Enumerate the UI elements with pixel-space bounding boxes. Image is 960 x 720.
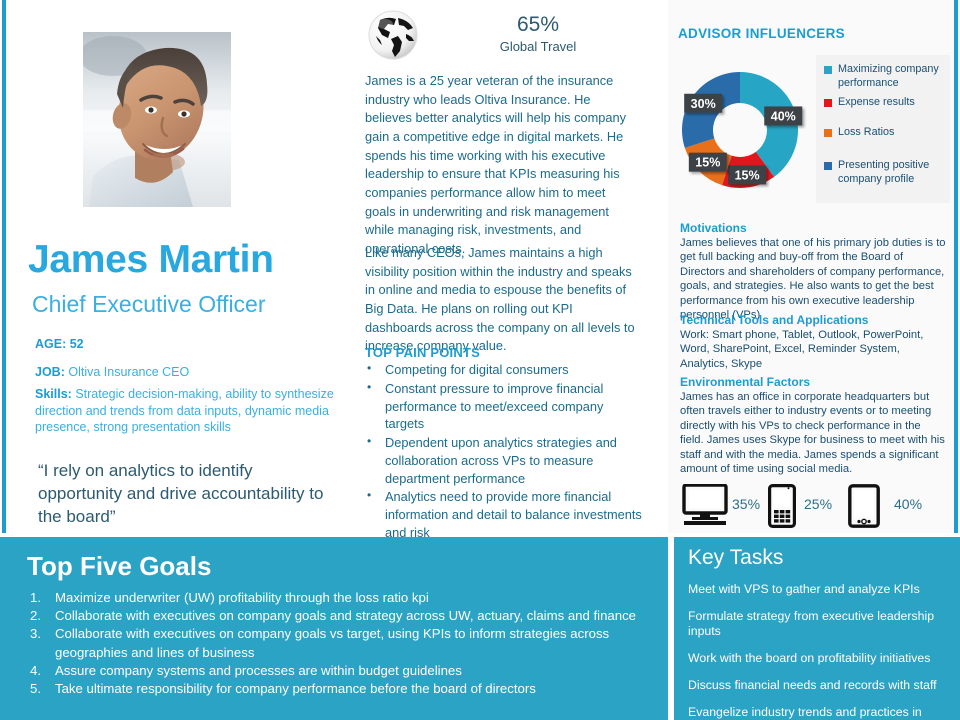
list-item: Formulate strategy from executive leader… <box>688 609 956 639</box>
advisor-influencers-donut-chart: 40%15%15%30% <box>670 50 810 210</box>
legend-swatch-3 <box>824 162 832 170</box>
list-item: Take ultimate responsibility for company… <box>27 680 637 698</box>
key-tasks-list: Meet with VPS to gather and analyze KPIs… <box>688 582 956 720</box>
section-title: Environmental Factors <box>680 375 946 390</box>
environmental-factors-section: Environmental Factors James has an offic… <box>680 375 946 477</box>
insights-column: ADVISOR INFLUENCERS 40%15%15%30% Maximiz… <box>668 0 954 533</box>
legend-swatch-2 <box>824 129 832 137</box>
persona-infographic: James Martin Chief Executive Officer AGE… <box>0 0 960 720</box>
travel-label: Global Travel <box>448 39 628 54</box>
age-fact: AGE: 52 <box>35 336 335 353</box>
device-percent: 40% <box>894 496 922 512</box>
portrait-photo <box>83 32 231 207</box>
device-percent: 35% <box>732 496 760 512</box>
job-fact: JOB: Oltiva Insurance CEO <box>35 364 335 381</box>
list-item: Dependent upon analytics strategies and … <box>365 434 643 487</box>
legend-item: Maximizing company performance <box>824 63 960 90</box>
section-body: James has an office in corporate headqua… <box>680 390 946 477</box>
legend-swatch-1 <box>824 99 832 107</box>
advisor-influencers-heading: ADVISOR INFLUENCERS <box>678 26 845 41</box>
desktop-monitor-icon <box>682 484 728 528</box>
chart-legend: Maximizing company performance Expense r… <box>816 55 950 203</box>
legend-label: Maximizing company performance <box>838 63 939 89</box>
legend-label: Expense results <box>838 96 915 108</box>
avatar <box>83 32 231 207</box>
device-percent: 25% <box>804 496 832 512</box>
legend-label: Loss Ratios <box>838 126 894 138</box>
list-item: Collaborate with executives on company g… <box>27 625 637 661</box>
donut-label-value: 15% <box>695 156 720 170</box>
legend-swatch-0 <box>824 66 832 74</box>
technical-tools-section: Technical Tools and Applications Work: S… <box>680 313 946 371</box>
skills-fact: Skills: Strategic decision-making, abili… <box>35 386 335 436</box>
list-item: Meet with VPS to gather and analyze KPIs <box>688 582 956 597</box>
section-body: Work: Smart phone, Tablet, Outlook, Powe… <box>680 328 946 371</box>
list-item: Discuss financial needs and records with… <box>688 678 956 693</box>
age-value: 52 <box>70 337 84 351</box>
legend-item: Loss Ratios <box>824 126 960 140</box>
tablet-icon <box>848 484 880 528</box>
top-area: James Martin Chief Executive Officer AGE… <box>0 0 960 533</box>
goals-title: Top Five Goals <box>27 551 211 582</box>
page-title: James Martin <box>28 240 348 281</box>
top-five-goals-panel: Top Five Goals Maximize underwriter (UW)… <box>0 537 668 720</box>
goals-list: Maximize underwriter (UW) profitability … <box>27 589 637 698</box>
list-item: Competing for digital consumers <box>365 361 643 379</box>
list-item: Collaborate with executives on company g… <box>27 607 637 625</box>
list-item: Work with the board on profitability ini… <box>688 651 956 666</box>
list-item: Constant pressure to improve financial p… <box>365 380 643 433</box>
list-item: Maximize underwriter (UW) profitability … <box>27 589 637 607</box>
profile-column: James Martin Chief Executive Officer AGE… <box>10 0 350 533</box>
donut-label-value: 40% <box>771 109 796 123</box>
narrative-column: 65% Global Travel James is a 25 year vet… <box>358 0 648 533</box>
list-item: Evangelize industry trends and practices… <box>688 705 956 720</box>
list-item: Analytics need to provide more financial… <box>365 488 643 541</box>
section-body: James believes that one of his primary j… <box>680 236 946 323</box>
list-item: Assure company systems and processes are… <box>27 662 637 680</box>
skills-value: Strategic decision-making, ability to sy… <box>35 387 334 434</box>
legend-label: Presenting positive company profile <box>838 159 929 185</box>
pain-points-heading: TOP PAIN POINTS <box>365 345 480 360</box>
persona-quote: “I rely on analytics to identify opportu… <box>38 460 328 528</box>
key-tasks-panel: Key Tasks Meet with VPS to gather and an… <box>674 537 960 720</box>
globe-icon <box>364 8 422 62</box>
legend-item: Presenting positive company profile <box>824 159 960 186</box>
section-title: Technical Tools and Applications <box>680 313 946 328</box>
bio-paragraph-1: James is a 25 year veteran of the insura… <box>365 72 637 259</box>
person-job-title: Chief Executive Officer <box>32 292 352 317</box>
section-title: Motivations <box>680 221 946 236</box>
age-label: AGE: <box>35 337 66 351</box>
key-tasks-title: Key Tasks <box>688 546 783 570</box>
feature-phone-icon <box>768 484 796 528</box>
job-value: Oltiva Insurance CEO <box>68 365 189 379</box>
job-label: JOB: <box>35 365 65 379</box>
bio-paragraph-2: Like many CEOs, James maintains a high v… <box>365 244 637 356</box>
device-usage-group: 35% <box>682 484 942 528</box>
legend-item: Expense results <box>824 96 960 110</box>
bottom-area: Top Five Goals Maximize underwriter (UW)… <box>0 537 960 720</box>
donut-label-value: 15% <box>735 168 760 182</box>
skills-label: Skills: <box>35 387 72 401</box>
travel-percent: 65% <box>448 13 628 36</box>
pain-points-list: Competing for digital consumers Constant… <box>365 361 643 543</box>
donut-label-value: 30% <box>691 97 716 111</box>
motivations-section: Motivations James believes that one of h… <box>680 221 946 323</box>
